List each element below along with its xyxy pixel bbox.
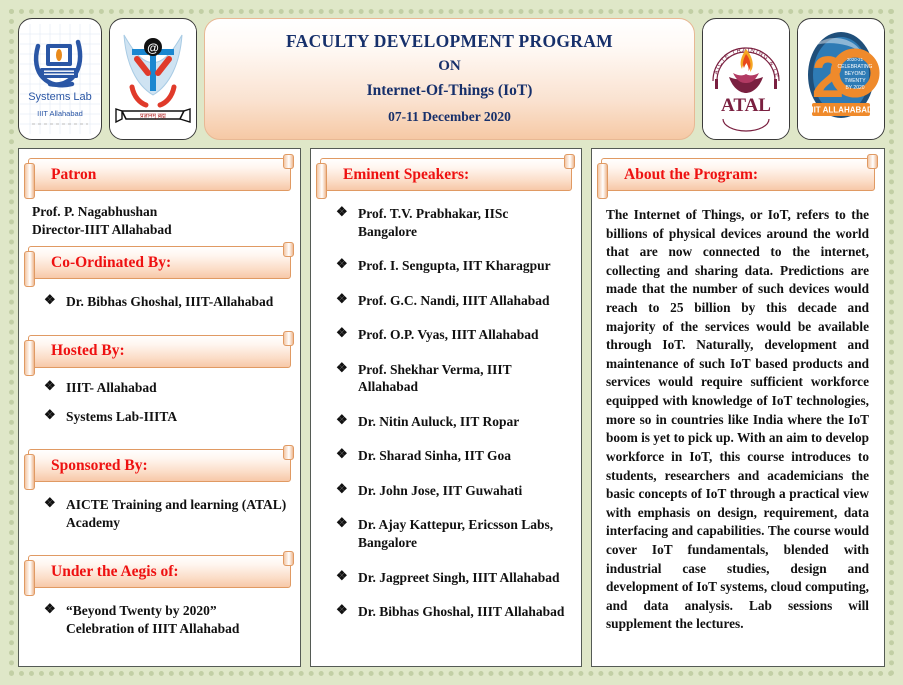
patron-heading-label: Patron xyxy=(51,166,96,184)
list-item: Prof. T.V. Prabhakar, IISc Bangalore xyxy=(336,205,568,240)
left-column: Patron Prof. P. Nagabhushan Director-III… xyxy=(18,148,301,667)
list-item: Systems Lab-IIITA xyxy=(44,408,287,426)
svg-text:CELEBRATING: CELEBRATING xyxy=(838,64,873,70)
systems-lab-logo: Systems Lab IIIT Allahabad xyxy=(18,18,102,140)
list-item: Prof. I. Sengupta, IIT Kharagpur xyxy=(336,257,568,275)
atal-logo: AICTE TRAINING & LEARNING ACADEMY ATAL xyxy=(702,18,790,140)
list-item: Dr. Bibhas Ghoshal, IIIT Allahabad xyxy=(336,603,568,621)
event-title-box: FACULTY DEVELOPMENT PROGRAM ON Internet-… xyxy=(204,18,695,140)
patron-name: Prof. P. Nagabhushan xyxy=(32,203,289,221)
atal-wordmark: ATAL xyxy=(721,95,771,116)
svg-text:TWENTY: TWENTY xyxy=(844,78,866,84)
svg-text:BY 2020: BY 2020 xyxy=(845,85,864,91)
about-program-label: About the Program: xyxy=(624,166,758,184)
iiit-allahabad-emblem: @ प्रज्ञानम् ब्रह्म xyxy=(109,18,197,140)
title-subject: Internet-Of-Things (IoT) xyxy=(367,78,533,104)
iiita-20-years-logo: 2 2020-21 CELEBRATING BEYOND TWENTY BY 2… xyxy=(797,18,885,140)
sponsored-by-list: AICTE Training and learning (ATAL) Acade… xyxy=(26,484,293,552)
poster-root: Systems Lab IIIT Allahabad @ xyxy=(0,0,903,685)
eminent-speakers-list: Prof. T.V. Prabhakar, IISc Bangalore Pro… xyxy=(318,193,574,648)
coordinated-by-heading: Co-Ordinated By: xyxy=(28,246,291,279)
coordinated-by-list: Dr. Bibhas Ghoshal, IIIT-Allahabad xyxy=(26,281,293,332)
poster-inner: Systems Lab IIIT Allahabad @ xyxy=(18,18,885,667)
about-program-heading: About the Program: xyxy=(601,158,875,191)
middle-column: Eminent Speakers: Prof. T.V. Prabhakar, … xyxy=(310,148,582,667)
list-item: Prof. G.C. Nandi, IIIT Allahabad xyxy=(336,292,568,310)
list-item: Dr. Jagpreet Singh, IIIT Allahabad xyxy=(336,569,568,587)
patron-details: Prof. P. Nagabhushan Director-IIIT Allah… xyxy=(26,193,293,243)
svg-text:@: @ xyxy=(147,41,159,55)
hosted-by-list: IIIT- Allahabad Systems Lab-IIITA xyxy=(26,370,293,446)
hosted-by-heading: Hosted By: xyxy=(28,335,291,368)
title-on-word: ON xyxy=(438,54,461,78)
list-item: “Beyond Twenty by 2020” Celebration of I… xyxy=(44,602,287,637)
svg-text:प्रज्ञानम् ब्रह्म: प्रज्ञानम् ब्रह्म xyxy=(140,114,166,120)
title-dates: 07-11 December 2020 xyxy=(388,105,511,129)
list-item: Dr. Bibhas Ghoshal, IIIT-Allahabad xyxy=(44,293,287,311)
list-item: Dr. Nitin Auluck, IIT Ropar xyxy=(336,413,568,431)
iiita-wordmark: IIIT ALLAHABAD xyxy=(809,106,873,115)
under-aegis-heading: Under the Aegis of: xyxy=(28,555,291,588)
svg-text:2020-21: 2020-21 xyxy=(847,57,864,62)
systems-lab-label: Systems Lab xyxy=(28,91,92,103)
coordinated-by-label: Co-Ordinated By: xyxy=(51,254,171,272)
poster-header: Systems Lab IIIT Allahabad @ xyxy=(18,18,885,140)
patron-heading: Patron xyxy=(28,158,291,191)
sponsored-by-label: Sponsored By: xyxy=(51,457,148,475)
right-column: About the Program: The Internet of Thing… xyxy=(591,148,885,667)
poster-columns: Patron Prof. P. Nagabhushan Director-III… xyxy=(18,148,885,667)
sponsored-by-heading: Sponsored By: xyxy=(28,449,291,482)
svg-text:BEYOND: BEYOND xyxy=(844,71,866,77)
about-program-body: The Internet of Things, or IoT, refers t… xyxy=(599,193,877,640)
systems-lab-sublabel: IIIT Allahabad xyxy=(37,109,83,118)
list-item: AICTE Training and learning (ATAL) Acade… xyxy=(44,496,287,531)
list-item: Dr. Ajay Kattepur, Ericsson Labs, Bangal… xyxy=(336,516,568,551)
eminent-speakers-label: Eminent Speakers: xyxy=(343,166,469,184)
under-aegis-list: “Beyond Twenty by 2020” Celebration of I… xyxy=(26,590,293,658)
list-item: Dr. John Jose, IIT Guwahati xyxy=(336,482,568,500)
hosted-by-label: Hosted By: xyxy=(51,342,125,360)
page-title: FACULTY DEVELOPMENT PROGRAM xyxy=(286,29,613,54)
list-item: IIIT- Allahabad xyxy=(44,379,287,397)
under-aegis-label: Under the Aegis of: xyxy=(51,563,179,581)
eminent-speakers-heading: Eminent Speakers: xyxy=(320,158,572,191)
patron-designation: Director-IIIT Allahabad xyxy=(32,221,289,239)
list-item: Prof. O.P. Vyas, IIIT Allahabad xyxy=(336,326,568,344)
list-item: Dr. Sharad Sinha, IIT Goa xyxy=(336,447,568,465)
list-item: Prof. Shekhar Verma, IIIT Allahabad xyxy=(336,361,568,396)
